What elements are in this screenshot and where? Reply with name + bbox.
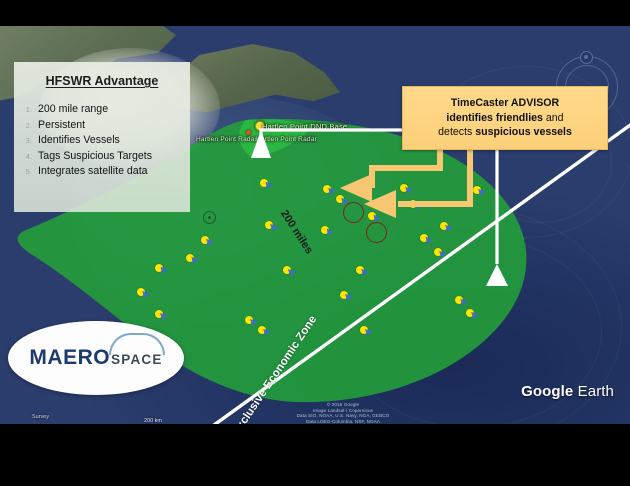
- hfswr-advantage-item: Identifies Vessels: [34, 133, 190, 149]
- slide-canvas: Hartlen Point DND Base Hartlen Point Rad…: [0, 0, 630, 486]
- label-hartlen-point-dnd-base: Hartlen Point DND Base: [262, 122, 347, 131]
- scalebar-left-label: Survey: [32, 414, 49, 420]
- letterbox-bottom: [0, 424, 630, 486]
- arc-icon: [109, 333, 165, 355]
- hfswr-advantage-item: Persistent: [34, 118, 190, 134]
- map-crosshair-icon: [203, 211, 216, 224]
- callout-line-2-bold: identifies friendlies: [446, 112, 543, 124]
- google-earth-wordmark: Google Earth: [521, 383, 614, 400]
- letterbox-top: [0, 0, 630, 26]
- logo-inner: MAERO SPACE: [29, 346, 162, 370]
- logo-primary-text: MAERO: [29, 346, 110, 370]
- wordmark-earth: Earth: [578, 383, 614, 400]
- hfswr-advantage-panel: HFSWR Advantage 200 mile rangePersistent…: [14, 62, 190, 212]
- suspicious-target-circle[interactable]: [343, 202, 364, 223]
- callout-line-1: TimeCaster ADVISOR: [451, 96, 559, 111]
- label-hartlen-point-radar-left: Hartlen Point Radar: [196, 136, 257, 143]
- maerospace-logo: MAERO SPACE: [8, 321, 184, 395]
- callout-line-3-rest: detects: [438, 126, 475, 138]
- hfswr-advantage-item: Integrates satellite data: [34, 164, 190, 180]
- suspicious-target-circle[interactable]: [366, 222, 387, 243]
- hfswr-advantage-item: 200 mile range: [34, 102, 190, 118]
- hfswr-panel-title: HFSWR Advantage: [14, 62, 190, 88]
- callout-line-2: identifies friendlies and: [446, 111, 563, 126]
- hartlen-point-radar-pin[interactable]: [246, 130, 251, 135]
- timecaster-advisor-callout: TimeCaster ADVISOR identifies friendlies…: [402, 86, 608, 150]
- callout-line-3: detects suspicious vessels: [438, 125, 572, 140]
- callout-line-2-rest: and: [543, 112, 564, 124]
- map-attribution: © 2016 Google Image Landsat / Copernicus…: [268, 402, 418, 424]
- wordmark-google: Google: [521, 383, 573, 400]
- hfswr-advantage-list: 200 mile rangePersistentIdentifies Vesse…: [14, 102, 190, 180]
- callout-line-3-bold: suspicious vessels: [475, 126, 572, 138]
- compass-north-knob[interactable]: [580, 51, 593, 64]
- label-hartlen-point-radar-right: Hartlen Point Radar: [256, 136, 317, 143]
- hfswr-advantage-item: Tags Suspicious Targets: [34, 149, 190, 165]
